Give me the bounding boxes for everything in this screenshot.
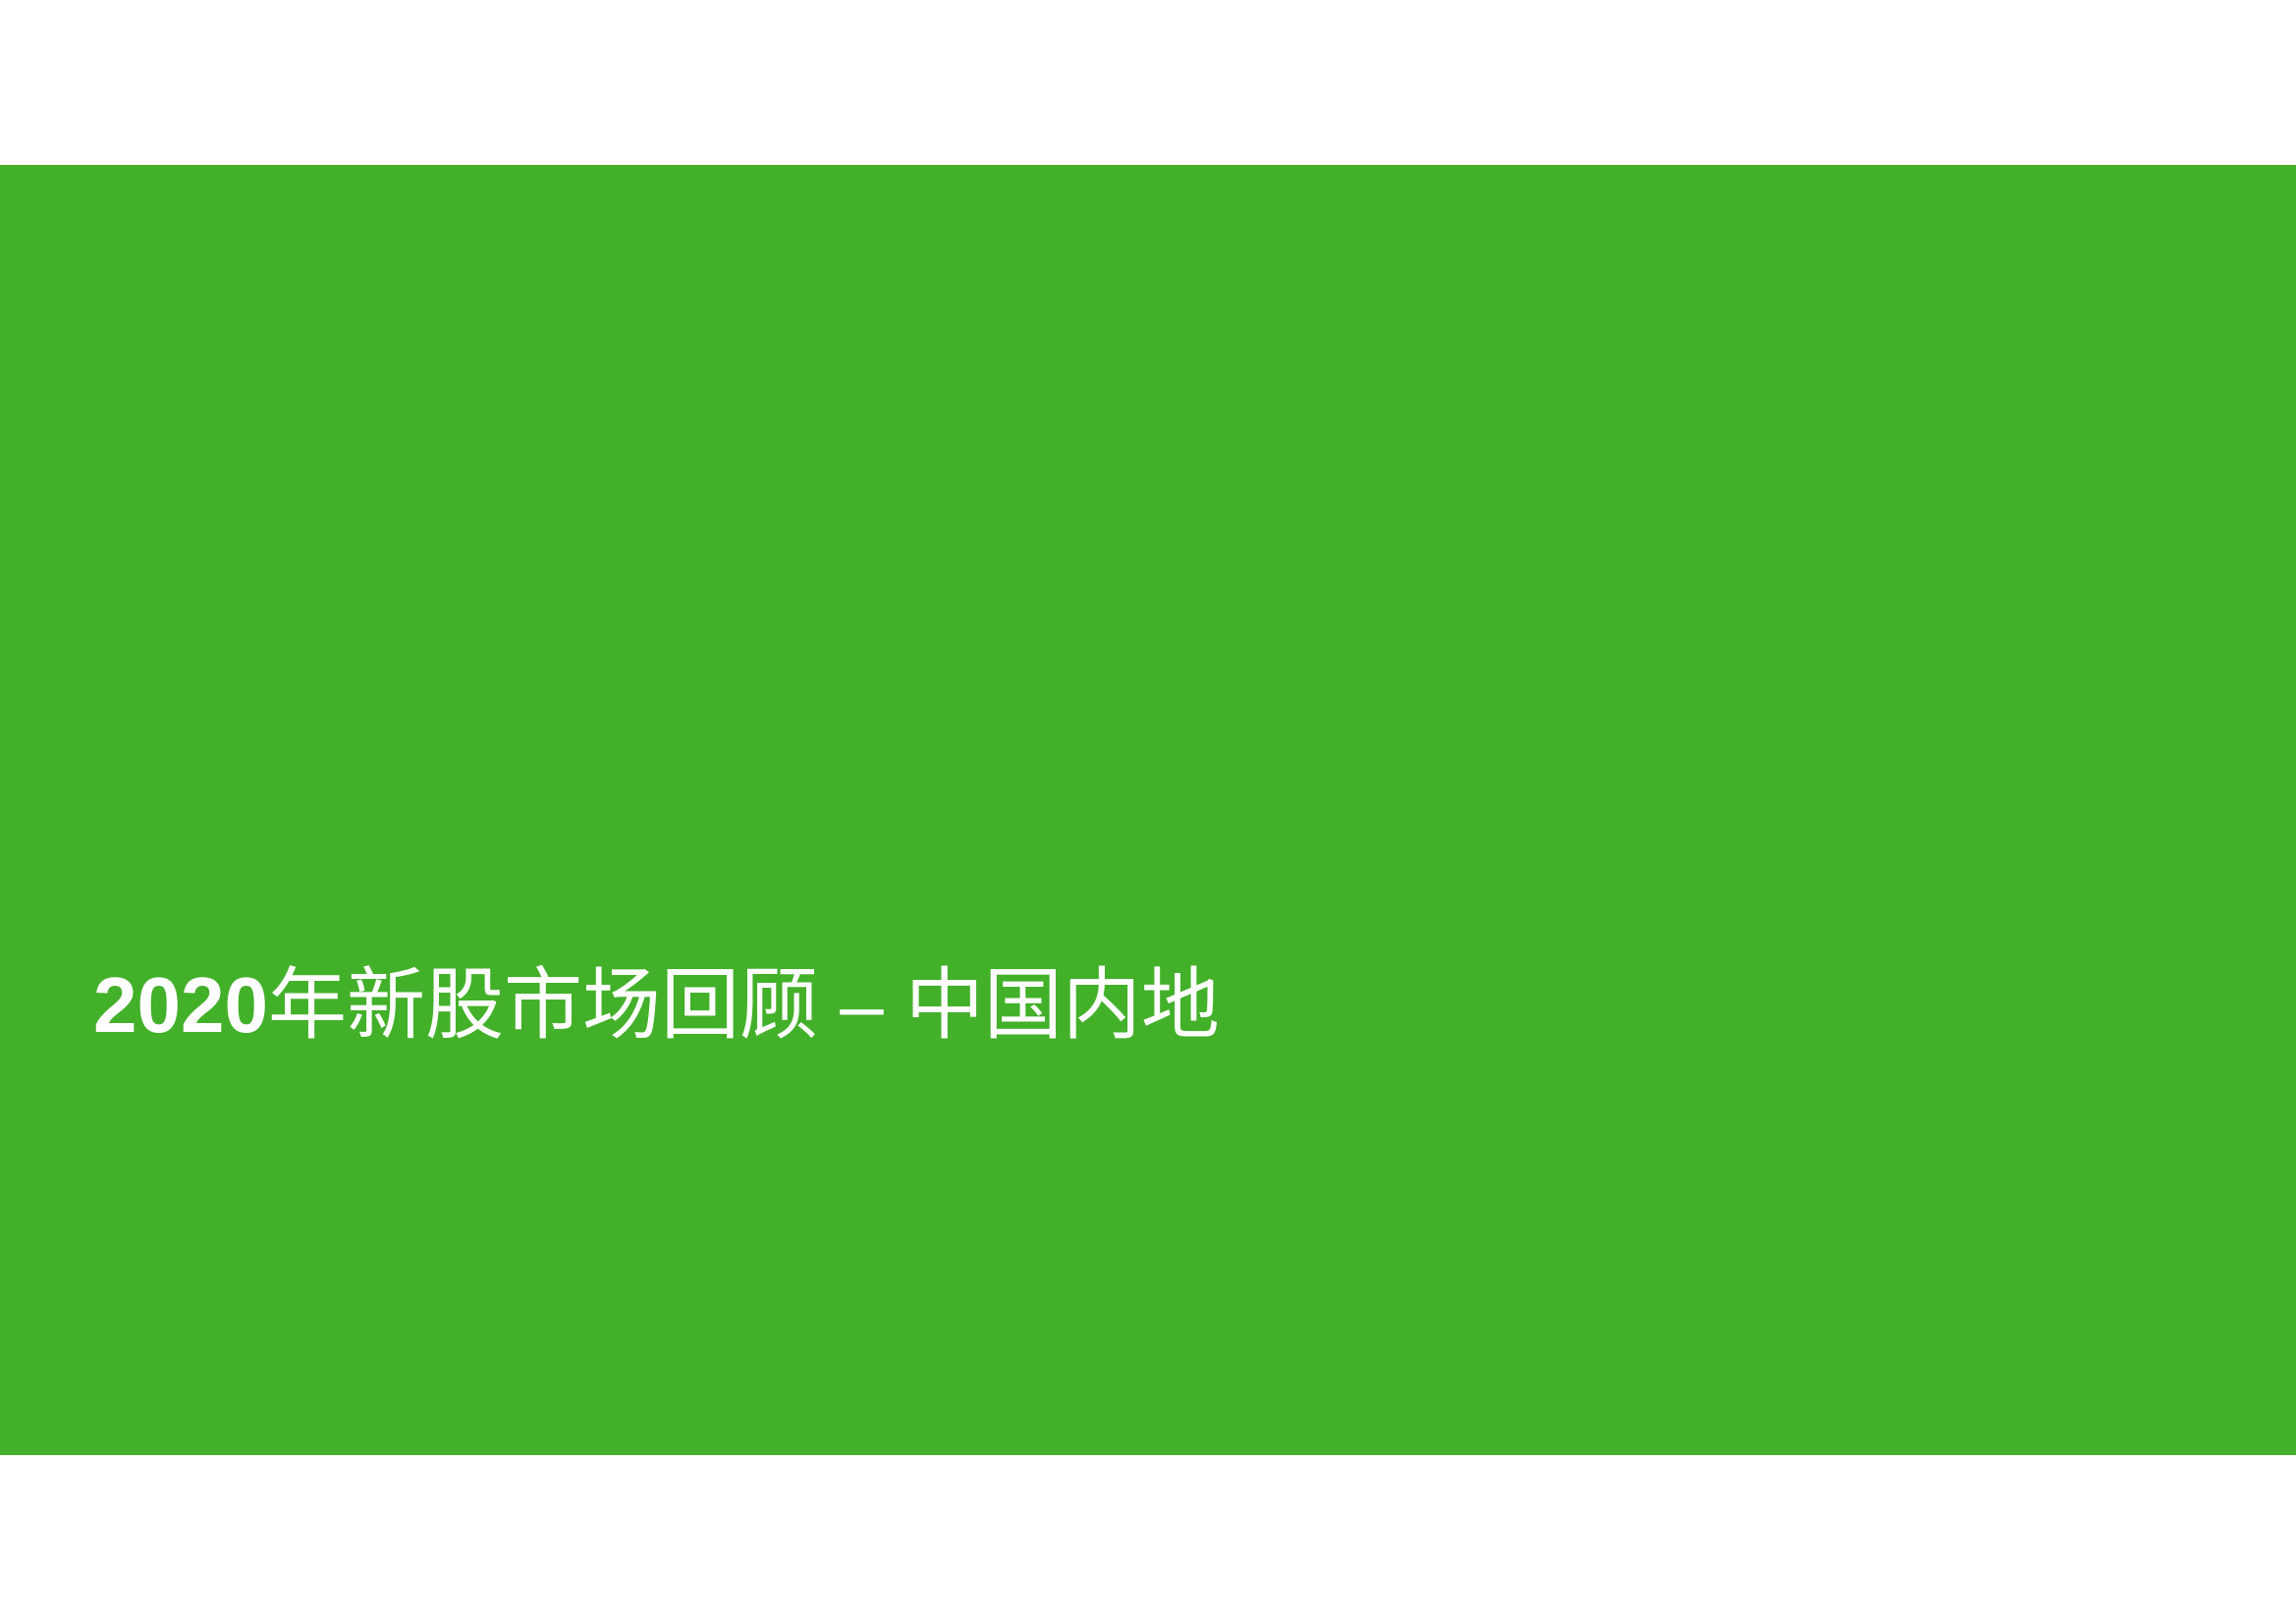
slide-canvas: 2020年新股市场回顾 – 中国内地 © 2020。欲了解更多信息，请联系德勤中… <box>0 0 2296 1622</box>
page-title: 2020年新股市场回顾 – 中国内地 <box>93 954 1959 1056</box>
page-title-year: 2020 <box>93 961 268 1049</box>
footer-page-number: 7 <box>2196 1536 2205 1559</box>
footer-copyright-text: © 2020。欲了解更多信息，请联系德勤中国。 <box>88 1536 413 1559</box>
section-divider-panel: 2020年新股市场回顾 – 中国内地 © 2020。欲了解更多信息，请联系德勤中… <box>0 165 2296 1455</box>
page-title-text: 年新股市场回顾 – 中国内地 <box>268 961 1220 1049</box>
slide-footer: © 2020。欲了解更多信息，请联系德勤中国。 7 <box>0 1536 2296 1575</box>
